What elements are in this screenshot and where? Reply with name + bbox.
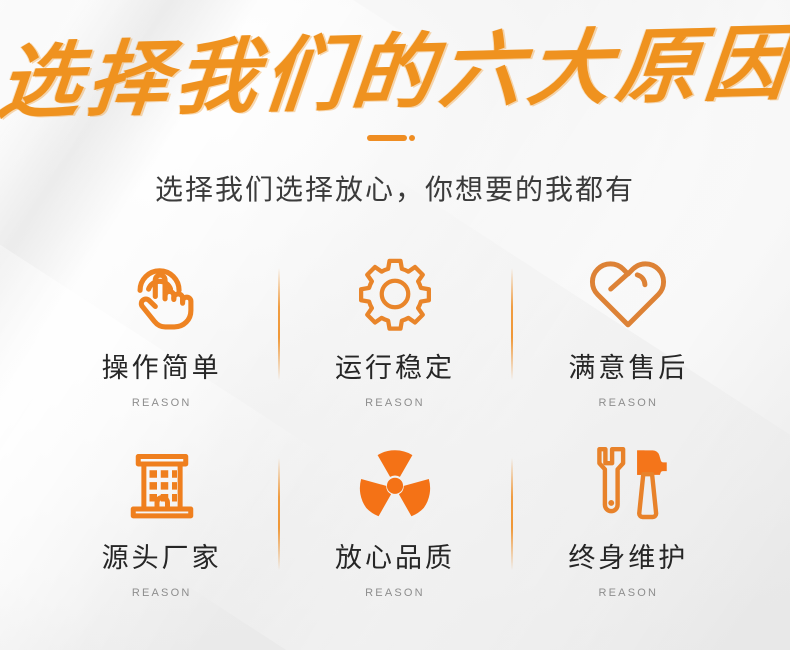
- page-title: 选择我们的六大原因: [0, 20, 790, 125]
- reason-item-stable-operation[interactable]: 运行稳定 REASON: [278, 252, 511, 442]
- reason-label: 操作简单: [102, 346, 222, 385]
- reason-label: 满意售后: [568, 346, 688, 385]
- reason-item-after-sales[interactable]: 满意售后 REASON: [512, 252, 745, 442]
- wrench-hammer-icon: [584, 442, 672, 526]
- reason-sublabel: REASON: [598, 587, 658, 599]
- radiation-icon: [354, 442, 436, 526]
- poster-header: 选择我们的六大原因 选择我们选择放心，你想要的我都有: [0, 0, 790, 208]
- promo-poster: 选择我们的六大原因 选择我们选择放心，你想要的我都有: [0, 0, 790, 650]
- reason-item-quality[interactable]: 放心品质 REASON: [278, 442, 511, 632]
- dash-dot-divider-icon: [367, 134, 423, 142]
- reason-label: 运行稳定: [335, 346, 455, 385]
- reason-sublabel: REASON: [365, 587, 425, 599]
- reason-item-source-factory[interactable]: 源头厂家 REASON: [45, 442, 278, 632]
- reason-label: 放心品质: [335, 536, 455, 575]
- reason-sublabel: REASON: [598, 397, 658, 409]
- divider-bar: [367, 135, 407, 141]
- reason-label: 源头厂家: [102, 536, 222, 575]
- touch-gesture-icon: [123, 252, 201, 336]
- reasons-grid: 操作简单 REASON 运行稳定 REASON 满: [45, 252, 745, 632]
- reason-item-operation-simple[interactable]: 操作简单 REASON: [45, 252, 278, 442]
- reason-sublabel: REASON: [132, 397, 192, 409]
- divider-dot: [409, 135, 415, 141]
- factory-building-icon: [122, 442, 202, 526]
- gear-icon: [355, 252, 435, 336]
- page-subtitle: 选择我们选择放心，你想要的我都有: [0, 168, 790, 208]
- heart-icon: [586, 252, 670, 336]
- reason-sublabel: REASON: [132, 587, 192, 599]
- reason-item-lifetime-maintenance[interactable]: 终身维护 REASON: [512, 442, 745, 632]
- reason-sublabel: REASON: [365, 397, 425, 409]
- reason-label: 终身维护: [568, 536, 688, 575]
